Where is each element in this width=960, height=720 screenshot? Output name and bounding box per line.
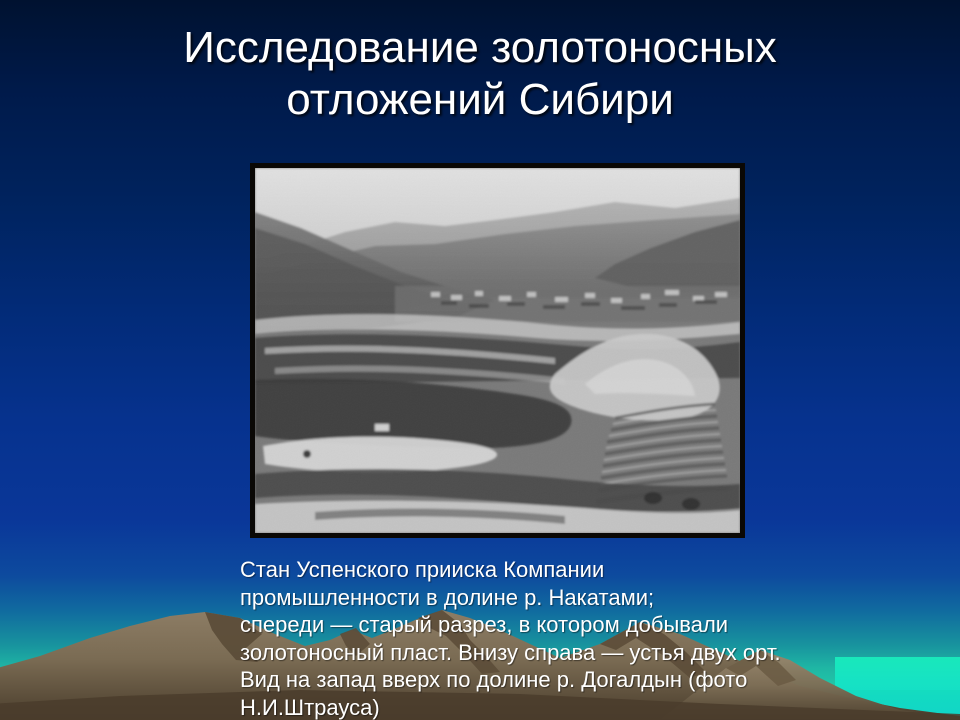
- photo-caption: Стан Успенского прииска Компании промышл…: [240, 556, 940, 720]
- slide-title: Исследование золотоносных отложений Сиби…: [0, 22, 960, 126]
- historic-photograph: [250, 163, 745, 538]
- presentation-slide: Исследование золотоносных отложений Сиби…: [0, 0, 960, 720]
